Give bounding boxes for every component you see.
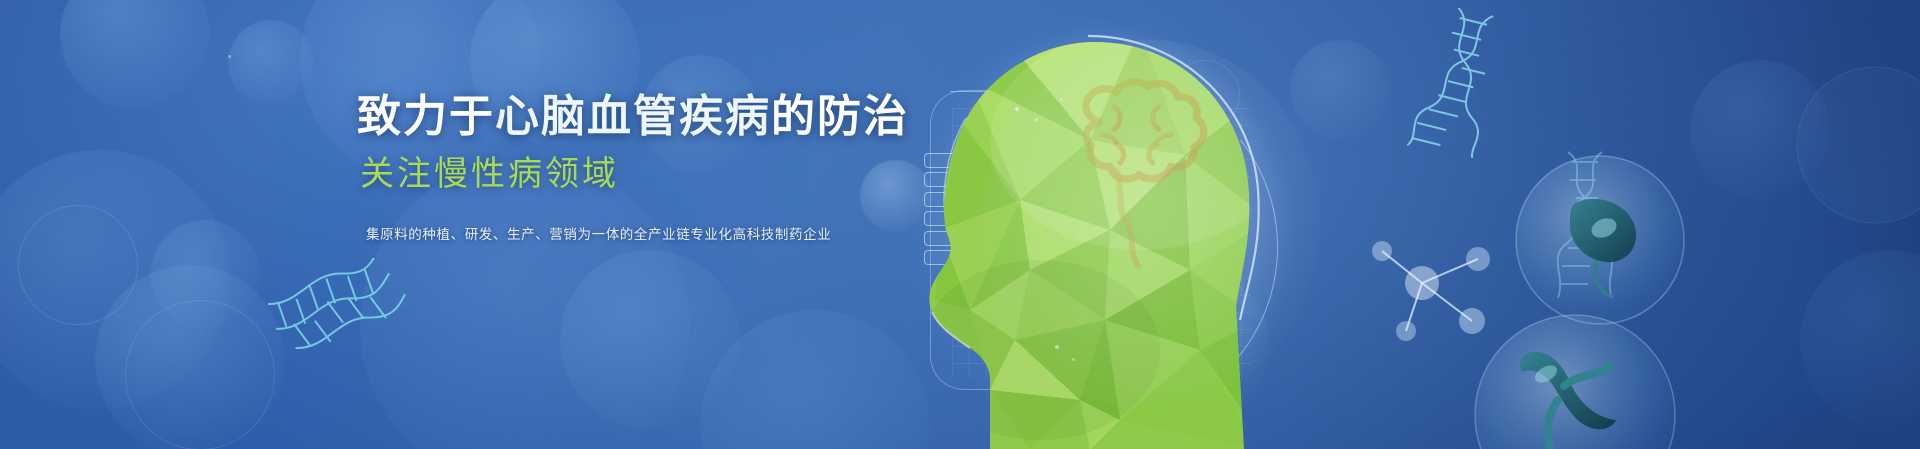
bokeh-circle	[1290, 40, 1390, 140]
headline-accent: 心脑血管疾病	[495, 92, 771, 141]
bokeh-circle	[228, 20, 314, 106]
dna-helix-right-icon	[1540, 150, 1630, 300]
hero-banner: 致力于心脑血管疾病的防治 关注慢性病领域 集原料的种植、研发、生产、营销为一体的…	[0, 0, 1920, 449]
cell-bacteria-icon	[1500, 140, 1700, 340]
cell-bacteria-icon	[1460, 300, 1690, 449]
dna-helix-left-icon	[268, 258, 408, 368]
dna-helix-right-icon	[1400, 8, 1520, 158]
bokeh-circle	[60, 0, 210, 110]
bokeh-circle	[150, 220, 260, 330]
bokeh-circle	[1800, 250, 1920, 430]
bokeh-circle	[95, 265, 285, 449]
headline-suffix: 的防治	[771, 92, 909, 141]
sparkle-dot	[1072, 358, 1075, 361]
bokeh-circle	[700, 310, 930, 449]
headline-prefix: 致力于	[357, 92, 495, 141]
sparkle-dot	[1055, 345, 1059, 349]
bokeh-ring	[125, 300, 275, 449]
molecule-icon	[1360, 225, 1510, 355]
sparkle-dot	[228, 55, 231, 58]
cell-bacteria-icon	[1790, 60, 1920, 230]
page-title: 致力于心脑血管疾病的防治	[357, 92, 1117, 141]
bokeh-ring	[18, 205, 138, 325]
bokeh-circle	[0, 150, 230, 410]
banner-copy: 致力于心脑血管疾病的防治 关注慢性病领域 集原料的种植、研发、生产、营销为一体的…	[357, 92, 1117, 243]
bokeh-ring	[1170, 60, 1240, 130]
page-tagline: 集原料的种植、研发、生产、营销为一体的全产业链专业化高科技制药企业	[366, 223, 1117, 243]
bokeh-circle	[1120, 270, 1270, 420]
bokeh-circle	[560, 250, 740, 430]
bokeh-circle	[1690, 60, 1830, 200]
page-subtitle: 关注慢性病领域	[360, 154, 1117, 195]
hud-bar	[924, 250, 996, 265]
